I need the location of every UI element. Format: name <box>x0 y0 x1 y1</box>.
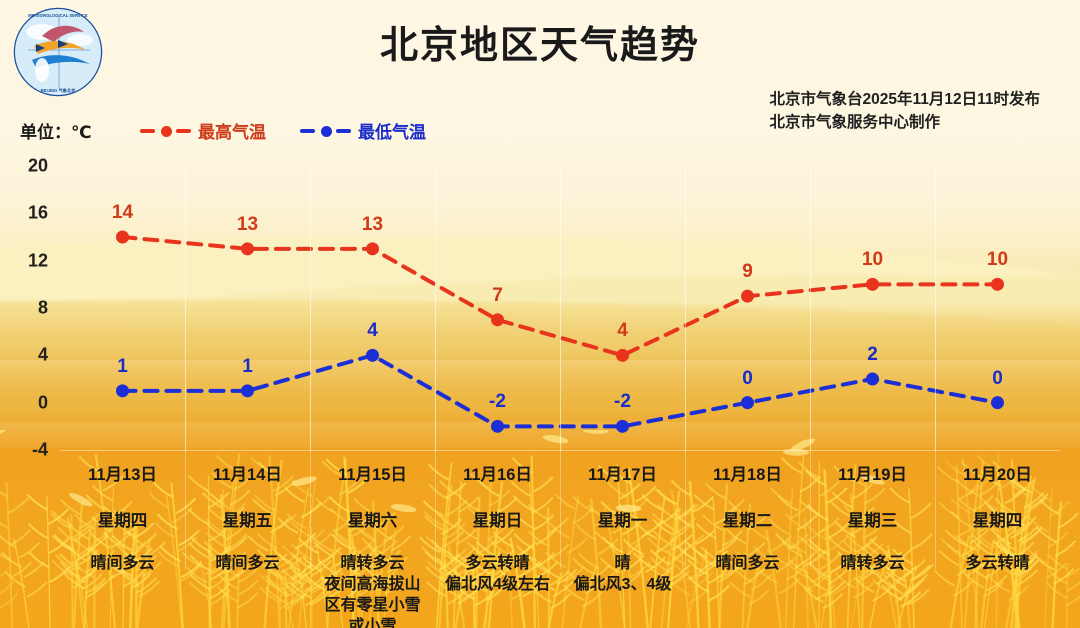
data-point-label: 10 <box>862 249 883 271</box>
data-point-label: 1 <box>242 356 253 378</box>
wheat-leaf <box>24 562 44 577</box>
data-point-label: -2 <box>614 391 631 413</box>
wheat-leaf <box>1067 576 1080 591</box>
day-description-line: 区有零星小雪 <box>312 595 433 616</box>
data-point <box>991 396 1004 409</box>
data-point <box>866 373 879 386</box>
gridline <box>810 166 811 450</box>
issue-line-1: 北京市气象台2025年11月12日11时发布 <box>770 88 1041 111</box>
y-tick-label: 4 <box>38 345 48 366</box>
data-point <box>616 420 629 433</box>
column-separator <box>310 449 311 569</box>
day-column: 11月14日星期五晴间多云 <box>185 455 310 628</box>
data-point-label: 0 <box>742 368 753 390</box>
data-point <box>741 396 754 409</box>
y-tick-label: 16 <box>28 203 48 224</box>
wheat-leaf <box>19 542 39 557</box>
y-tick-label: 12 <box>28 250 48 271</box>
day-columns: 11月13日星期四晴间多云11月14日星期五晴间多云11月15日星期六晴转多云夜… <box>60 455 1060 628</box>
day-column: 11月13日星期四晴间多云 <box>60 455 185 628</box>
legend-dash-high <box>140 124 192 138</box>
day-column: 11月15日星期六晴转多云夜间高海拔山区有零星小雪或小雪 <box>310 455 435 628</box>
day-date: 11月18日 <box>685 461 810 485</box>
day-description-line: 或小雪 <box>312 616 433 628</box>
wheat-leaf <box>0 594 18 609</box>
issue-info: 北京市气象台2025年11月12日11时发布 北京市气象服务中心制作 <box>770 88 1041 134</box>
svg-text:BEIJING 气象北京: BEIJING 气象北京 <box>41 87 76 94</box>
wheat-leaf <box>10 530 30 545</box>
page-title: 北京地区天气趋势 <box>0 14 1080 69</box>
legend-label-low: 最低气温 <box>358 118 426 143</box>
day-date: 11月15日 <box>310 461 435 485</box>
day-description: 多云转晴 <box>935 553 1060 574</box>
day-description-line: 偏北风4级左右 <box>437 574 558 595</box>
data-point <box>366 242 379 255</box>
data-point-label: 1 <box>117 356 128 378</box>
day-weekday: 星期四 <box>935 507 1060 531</box>
day-description: 晴间多云 <box>185 553 310 574</box>
day-column: 11月19日星期三晴转多云 <box>810 455 935 628</box>
day-description-line: 多云转晴 <box>437 553 558 574</box>
day-description-line: 夜间高海拔山 <box>312 574 433 595</box>
data-point <box>616 349 629 362</box>
wheat-stalk <box>47 496 50 628</box>
day-description: 晴间多云 <box>685 553 810 574</box>
day-column: 11月16日星期日多云转晴偏北风4级左右 <box>435 455 560 628</box>
legend-label-high: 最高气温 <box>198 118 266 143</box>
wheat-stalk <box>6 482 12 628</box>
y-tick-label: 20 <box>28 156 48 177</box>
gridline <box>185 166 186 450</box>
day-column: 11月20日星期四多云转晴 <box>935 455 1060 628</box>
day-weekday: 星期六 <box>310 507 435 531</box>
data-point <box>241 384 254 397</box>
data-point-label: -2 <box>489 391 506 413</box>
day-description-line: 晴转多云 <box>312 553 433 574</box>
gridline <box>310 166 311 450</box>
plot-area: 1413137491010114-2-2020 <box>60 166 1060 450</box>
day-description-line: 晴转多云 <box>812 553 933 574</box>
data-point <box>241 242 254 255</box>
data-point-label: 9 <box>742 261 753 283</box>
data-point-label: 13 <box>237 214 258 236</box>
y-tick-label: -4 <box>32 440 48 461</box>
chart-legend: 单位：℃ 最高气温 最低气温 <box>20 118 460 143</box>
gridline <box>560 166 561 450</box>
day-description-line: 晴间多云 <box>687 553 808 574</box>
day-description: 晴间多云 <box>60 553 185 574</box>
day-weekday: 星期三 <box>810 507 935 531</box>
day-date: 11月13日 <box>60 461 185 485</box>
day-date: 11月20日 <box>935 461 1060 485</box>
unit-label: 单位：℃ <box>20 118 140 143</box>
data-point-label: 14 <box>112 202 133 224</box>
gridline <box>435 166 436 450</box>
day-description-line: 晴 <box>562 553 683 574</box>
day-column: 11月18日星期二晴间多云 <box>685 455 810 628</box>
column-separator <box>810 449 811 569</box>
gridline <box>685 166 686 450</box>
data-point <box>741 290 754 303</box>
issue-line-2: 北京市气象服务中心制作 <box>770 111 1041 134</box>
wheat-leaf <box>27 582 47 597</box>
day-description: 晴转多云夜间高海拔山区有零星小雪或小雪 <box>310 553 435 628</box>
wheat-leaf <box>29 552 49 567</box>
column-separator <box>685 449 686 569</box>
data-point <box>116 384 129 397</box>
y-tick-label: 8 <box>38 298 48 319</box>
day-description-line: 多云转晴 <box>937 553 1058 574</box>
day-date: 11月14日 <box>185 461 310 485</box>
data-point-label: 0 <box>992 368 1003 390</box>
column-separator <box>185 449 186 569</box>
data-point <box>991 278 1004 291</box>
day-description: 晴偏北风3、4级 <box>560 553 685 595</box>
day-weekday: 星期日 <box>435 507 560 531</box>
data-point-label: 10 <box>987 249 1008 271</box>
day-weekday: 星期一 <box>560 507 685 531</box>
data-point-label: 7 <box>492 285 503 307</box>
data-point <box>866 278 879 291</box>
column-separator <box>560 449 561 569</box>
legend-item-low: 最低气温 <box>300 118 426 143</box>
data-point <box>491 313 504 326</box>
data-point <box>366 349 379 362</box>
day-description: 多云转晴偏北风4级左右 <box>435 553 560 595</box>
day-date: 11月16日 <box>435 461 560 485</box>
weather-trend-chart: METEOROLOGICAL SERVICE BEIJING 气象北京 北京地区… <box>0 0 1080 628</box>
column-separator <box>435 449 436 569</box>
wheat-leaf <box>28 495 48 510</box>
wheat-leaf <box>9 498 29 513</box>
legend-item-high: 最高气温 <box>140 118 266 143</box>
day-column: 11月17日星期一晴偏北风3、4级 <box>560 455 685 628</box>
column-separator <box>935 449 936 569</box>
day-description: 晴转多云 <box>810 553 935 574</box>
data-point-label: 2 <box>867 344 878 366</box>
data-point-label: 13 <box>362 214 383 236</box>
y-axis-labels: 201612840-4 <box>0 150 58 466</box>
legend-dash-low <box>300 124 352 138</box>
day-date: 11月19日 <box>810 461 935 485</box>
day-description-line: 晴间多云 <box>62 553 183 574</box>
data-point-label: 4 <box>617 320 628 342</box>
day-weekday: 星期二 <box>685 507 810 531</box>
day-description-line: 偏北风3、4级 <box>562 574 683 595</box>
day-weekday: 星期五 <box>185 507 310 531</box>
day-weekday: 星期四 <box>60 507 185 531</box>
wheat-leaf <box>29 524 49 539</box>
wheat-stalk <box>14 539 29 628</box>
day-date: 11月17日 <box>560 461 685 485</box>
gridline <box>935 166 936 450</box>
data-point <box>491 420 504 433</box>
data-point <box>116 231 129 244</box>
wheat-stalk <box>1067 563 1068 628</box>
wheat-leaf <box>1067 590 1080 605</box>
day-description-line: 晴间多云 <box>187 553 308 574</box>
data-point-label: 4 <box>367 320 378 342</box>
y-tick-label: 0 <box>38 392 48 413</box>
